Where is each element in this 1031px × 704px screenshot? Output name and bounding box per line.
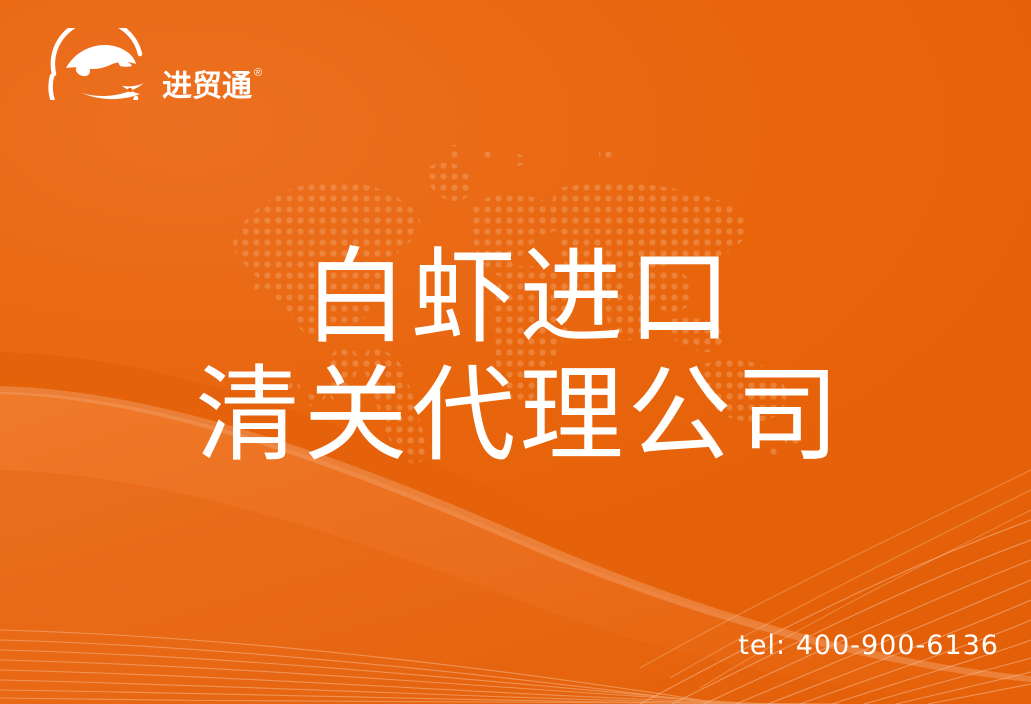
- brand-logo[interactable]: 进贸通 ®: [32, 28, 210, 100]
- marketing-banner: 进贸通 ® 白虾进口 清关代理公司 tel: 400-900-6136: [0, 0, 1031, 704]
- trademark-symbol: ®: [254, 68, 262, 79]
- page-title: 白虾进口 清关代理公司: [0, 238, 1031, 474]
- logo-brand-cn: 进贸通: [162, 72, 252, 102]
- headline-line-2: 清关代理公司: [0, 356, 1031, 474]
- contact-phone[interactable]: tel: 400-900-6136: [738, 632, 999, 659]
- headline-line-1: 白虾进口: [0, 238, 1031, 356]
